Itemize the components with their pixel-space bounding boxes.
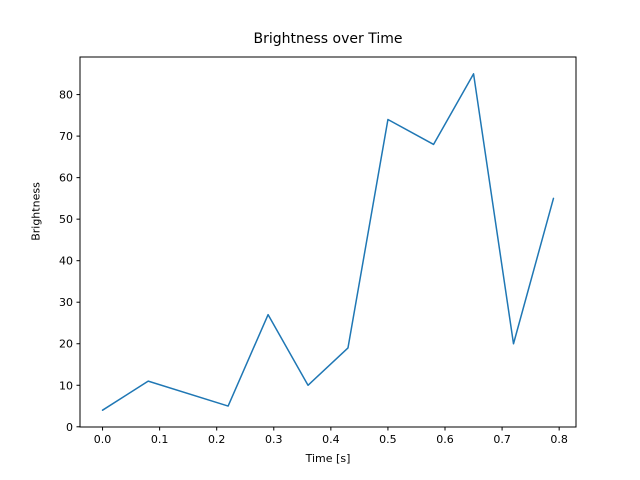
svg-text:0.6: 0.6 [436, 433, 454, 446]
svg-text:0.4: 0.4 [322, 433, 340, 446]
matplotlib-figure: Brightness over Time Brightness Time [s]… [0, 0, 640, 480]
series-line-0 [103, 74, 554, 410]
svg-text:40: 40 [59, 255, 73, 268]
svg-text:0.7: 0.7 [493, 433, 511, 446]
axes-frame [80, 57, 576, 427]
data-series-group [103, 74, 554, 410]
svg-text:60: 60 [59, 172, 73, 185]
y-axis-ticks: 01020304050607080 [59, 89, 80, 434]
svg-text:0.1: 0.1 [151, 433, 169, 446]
svg-text:80: 80 [59, 89, 73, 102]
svg-text:0.2: 0.2 [208, 433, 226, 446]
svg-text:0.3: 0.3 [265, 433, 283, 446]
svg-text:0.5: 0.5 [379, 433, 397, 446]
plot-area: 0.00.10.20.30.40.50.60.70.8 010203040506… [0, 0, 640, 480]
svg-text:0: 0 [66, 421, 73, 434]
svg-text:70: 70 [59, 130, 73, 143]
svg-text:50: 50 [59, 213, 73, 226]
svg-text:20: 20 [59, 338, 73, 351]
svg-text:10: 10 [59, 379, 73, 392]
svg-text:0.0: 0.0 [94, 433, 112, 446]
x-axis-ticks: 0.00.10.20.30.40.50.60.70.8 [94, 427, 568, 446]
svg-text:30: 30 [59, 296, 73, 309]
svg-text:0.8: 0.8 [550, 433, 568, 446]
